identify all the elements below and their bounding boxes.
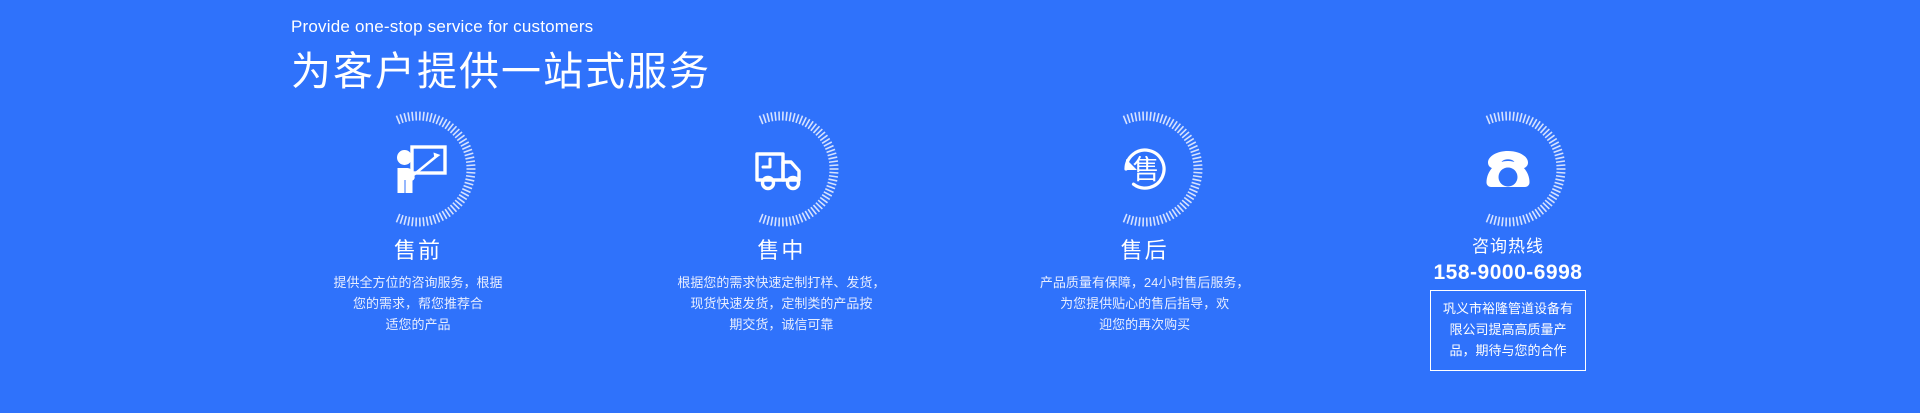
service-column-insale[interactable]: 售中 根据您的需求快速定制打样、发货， 现货快速发货，定制类的产品按 期交货，诚… (631, 110, 931, 335)
hotline-number[interactable]: 158-9000-6998 (1434, 260, 1583, 286)
presenter-whiteboard-icon (386, 137, 450, 201)
desc-line: 期交货，诚信可靠 (677, 314, 885, 335)
column-description: 产品质量有保障，24小时售后服务， 为您提供贴心的售后指导，欢 迎您的再次购买 (1040, 272, 1249, 335)
heading-block: Provide one-stop service for customers 为… (291, 16, 1191, 98)
service-column-presale[interactable]: 售前 提供全方位的咨询服务，根据 您的需求，帮您推荐合 适您的产品 (268, 110, 568, 335)
page-title: 为客户提供一站式服务 (291, 46, 1191, 98)
column-description: 根据您的需求快速定制打样、发货， 现货快速发货，定制类的产品按 期交货，诚信可靠 (677, 272, 885, 335)
desc-line: 产品质量有保障，24小时售后服务， (1040, 272, 1249, 293)
heading-english: Provide one-stop service for customers (291, 16, 1191, 38)
after-sales-glyph-text: 售 (1132, 155, 1159, 186)
hotline-label: 咨询热线 (1472, 234, 1544, 260)
column-title: 售后 (1121, 236, 1169, 266)
desc-line: 根据您的需求快速定制打样、发货， (677, 272, 885, 293)
service-columns: 售前 提供全方位的咨询服务，根据 您的需求，帮您推荐合 适您的产品 (268, 110, 1658, 371)
column-title: 售中 (757, 236, 805, 266)
company-note-box: 巩义市裕隆管道设备有限公司提高高质量产品，期待与您的合作 (1430, 290, 1586, 371)
desc-line: 为您提供贴心的售后指导，欢 (1040, 293, 1249, 314)
desc-line: 您的需求，帮您推荐合 (333, 293, 502, 314)
dial-aftersale: 售 (1086, 110, 1204, 228)
service-column-hotline[interactable]: 咨询热线 158-9000-6998 巩义市裕隆管道设备有限公司提高高质量产品，… (1358, 110, 1658, 371)
service-column-aftersale[interactable]: 售 售后 产品质量有保障，24小时售后服务， 为您提供贴心的售后指导，欢 迎您的… (995, 110, 1295, 335)
column-title: 售前 (394, 236, 442, 266)
column-description: 提供全方位的咨询服务，根据 您的需求，帮您推荐合 适您的产品 (333, 272, 502, 335)
desc-line: 迎您的再次购买 (1040, 314, 1249, 335)
company-note-line: 您的合作 (1514, 343, 1566, 358)
service-banner: Provide one-stop service for customers 为… (0, 0, 1920, 413)
dial-presale (359, 110, 477, 228)
dial-hotline (1449, 110, 1567, 228)
desc-line: 适您的产品 (333, 314, 502, 335)
telephone-icon (1476, 137, 1540, 201)
after-sales-refresh-icon: 售 (1113, 137, 1177, 201)
desc-line: 现货快速发货，定制类的产品按 (677, 293, 885, 314)
desc-line: 提供全方位的咨询服务，根据 (333, 272, 502, 293)
delivery-truck-clock-icon (749, 137, 813, 201)
dial-insale (722, 110, 840, 228)
